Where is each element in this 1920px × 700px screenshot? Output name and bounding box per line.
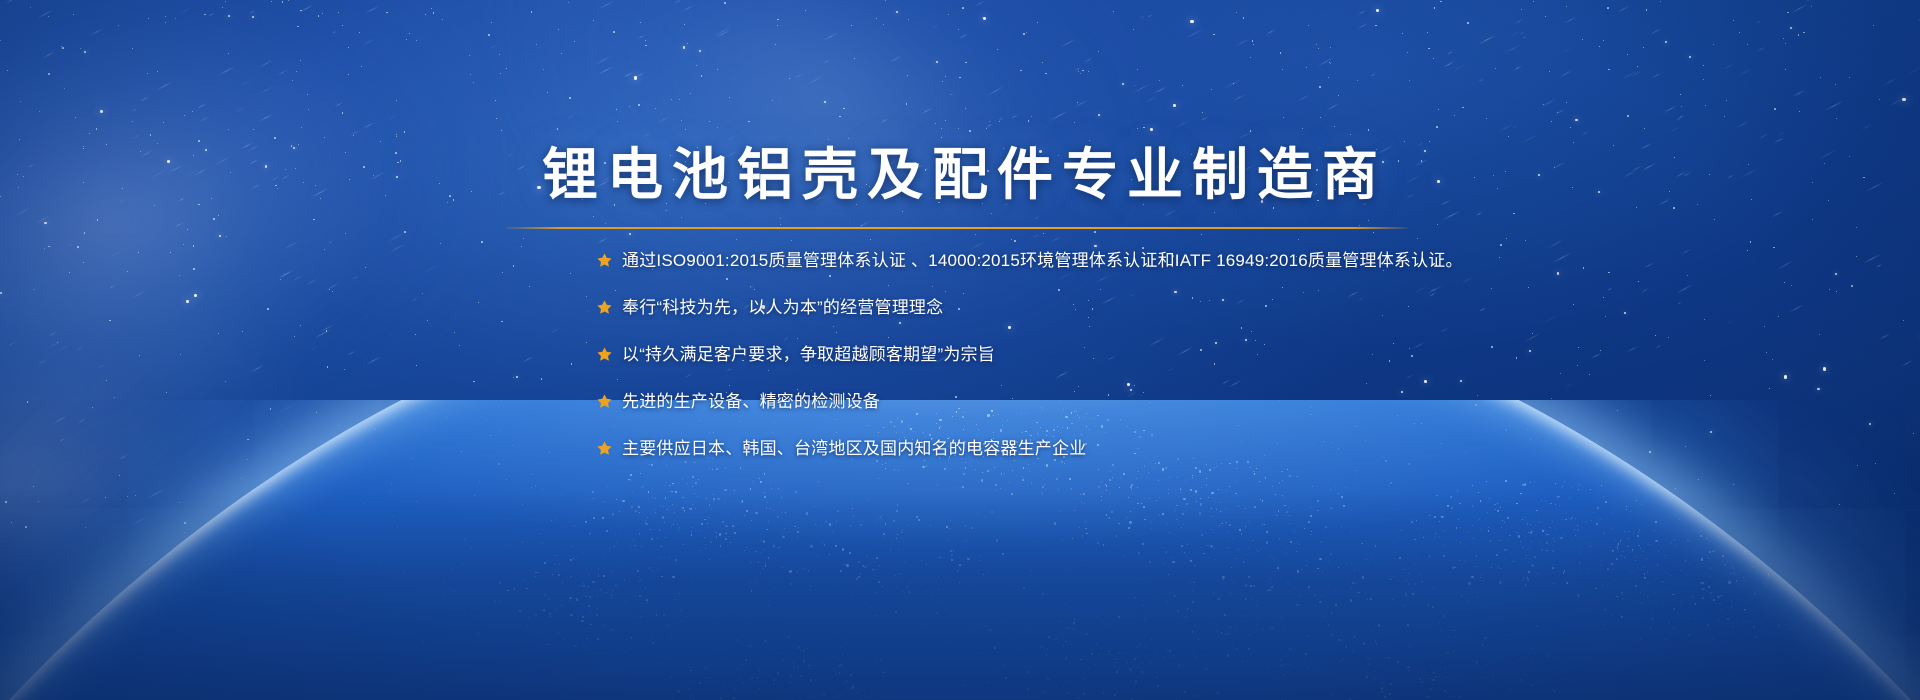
star-icon (596, 346, 613, 363)
feature-bullet-item: 奉行“科技为先，以人为本”的经营管理理念 (596, 295, 1596, 321)
feature-bullet-text: 先进的生产设备、精密的检测设备 (622, 389, 880, 415)
banner-headline: 锂电池铝壳及配件专业制造商 (0, 144, 1920, 207)
feature-bullet-text: 主要供应日本、韩国、台湾地区及国内知名的电容器生产企业 (622, 436, 1086, 462)
star-icon (596, 440, 613, 457)
feature-bullet-text: 奉行“科技为先，以人为本”的经营管理理念 (622, 295, 943, 321)
feature-bullet-text: 以“持久满足客户要求，争取超越顾客期望”为宗旨 (622, 342, 995, 368)
star-icon (596, 393, 613, 410)
feature-bullet-item: 通过ISO9001:2015质量管理体系认证 、14000:2015环境管理体系… (596, 248, 1596, 274)
star-icon (596, 299, 613, 316)
banner-content: 锂电池铝壳及配件专业制造商 通过ISO9001:2015质量管理体系认证 、14… (0, 0, 1920, 700)
feature-bullet-text: 通过ISO9001:2015质量管理体系认证 、14000:2015环境管理体系… (622, 248, 1463, 274)
feature-bullet-item: 主要供应日本、韩国、台湾地区及国内知名的电容器生产企业 (596, 436, 1596, 462)
feature-bullet-list: 通过ISO9001:2015质量管理体系认证 、14000:2015环境管理体系… (596, 248, 1596, 462)
gold-divider-line (506, 227, 1408, 229)
feature-bullet-item: 先进的生产设备、精密的检测设备 (596, 389, 1596, 415)
star-icon (596, 252, 613, 269)
feature-bullet-item: 以“持久满足客户要求，争取超越顾客期望”为宗旨 (596, 342, 1596, 368)
hero-banner: 锂电池铝壳及配件专业制造商 通过ISO9001:2015质量管理体系认证 、14… (0, 0, 1920, 700)
